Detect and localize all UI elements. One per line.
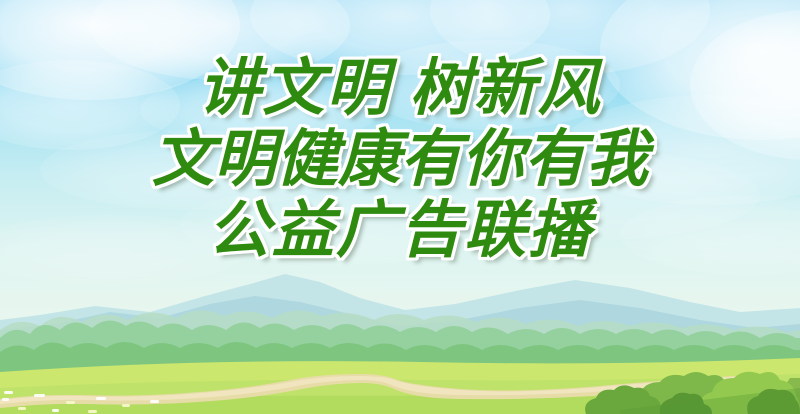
cloud-shape bbox=[600, 0, 800, 140]
cloud-shape bbox=[690, 10, 800, 160]
cloud-shape bbox=[40, 130, 340, 210]
cloud-shape bbox=[0, 60, 180, 150]
cloud-shape bbox=[90, 0, 350, 80]
public-service-ad-poster: 讲文明 树新风 文明健康有你有我 公益广告联播 bbox=[0, 0, 800, 414]
cloud-shape bbox=[250, 0, 550, 75]
cloud-shape bbox=[140, 75, 380, 145]
cloud-shape bbox=[620, 195, 800, 275]
cloud-shape bbox=[560, 95, 800, 205]
cloud-shape bbox=[180, 185, 500, 265]
cloud-shape bbox=[430, 0, 710, 75]
cloud-shape bbox=[360, 40, 620, 130]
bush-cluster-right bbox=[0, 348, 800, 414]
cloud-shape bbox=[0, 0, 240, 100]
cloud-shape bbox=[420, 150, 760, 240]
